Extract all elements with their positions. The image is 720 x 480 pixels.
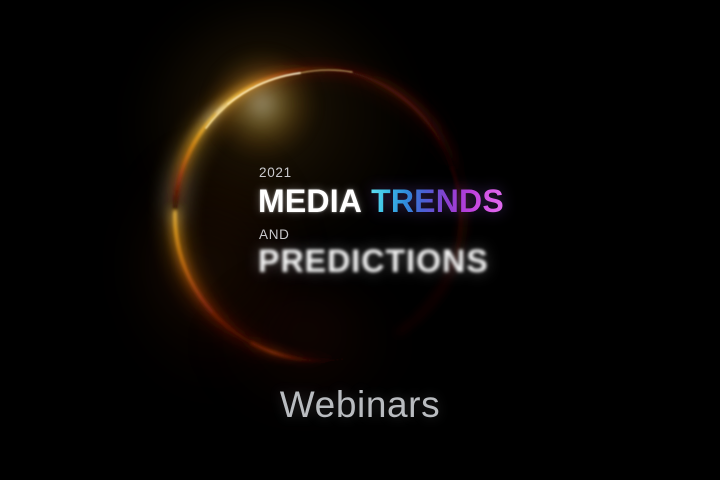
primary-headline: MEDIA TRENDS [258,185,678,218]
year-label: 2021 [259,166,678,180]
title-block: 2021 MEDIA TRENDS AND PREDICTIONS [258,166,678,277]
conjunction-label: AND [259,228,678,242]
footer-label-webinars: Webinars [0,385,720,426]
headline-word-predictions: PREDICTIONS [258,245,678,278]
headline-word-media: MEDIA [258,185,362,218]
presentation-slide: 2021 MEDIA TRENDS AND PREDICTIONS Webina… [0,0,720,480]
headline-word-trends: TRENDS [371,185,504,218]
